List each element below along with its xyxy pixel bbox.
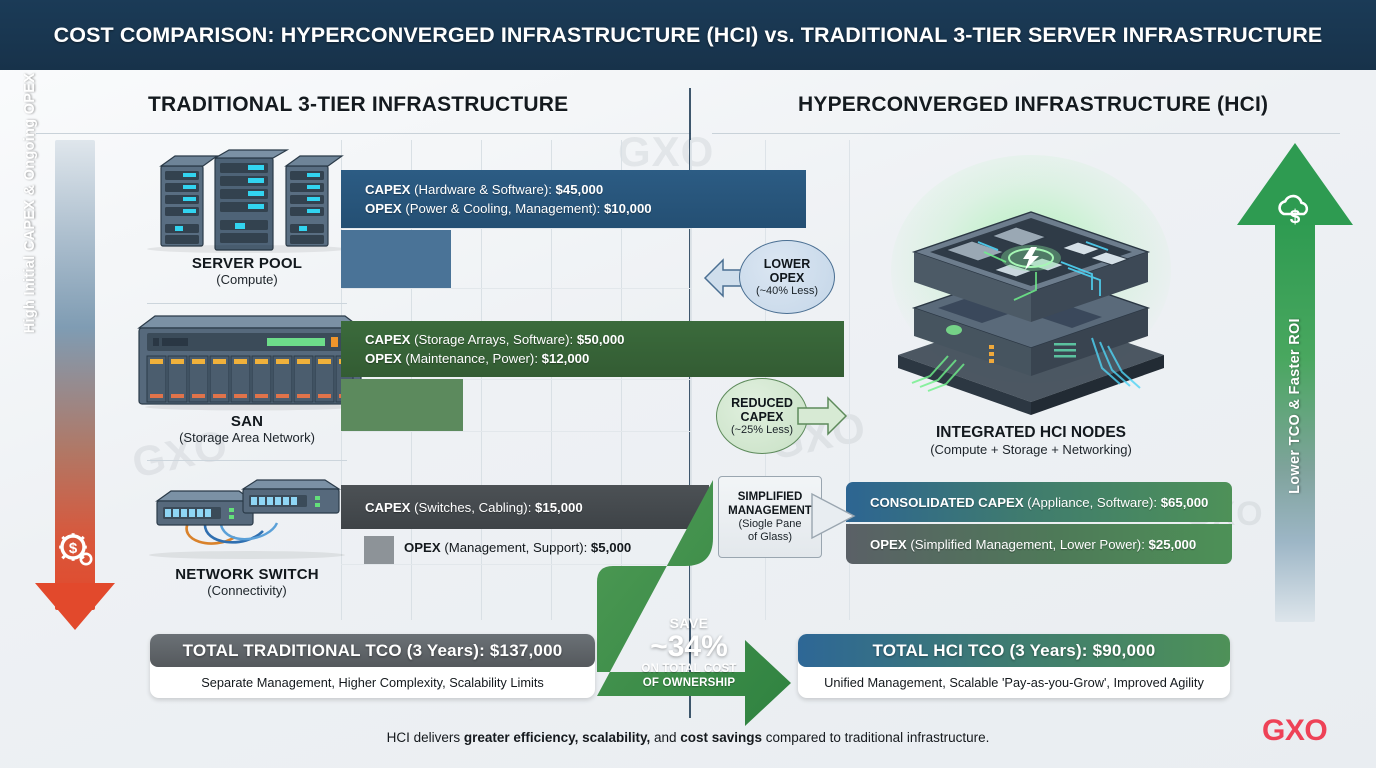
svg-text:$: $ xyxy=(69,540,78,557)
tier-network-switch: NETWORK SWITCH (Connectivity) xyxy=(117,475,377,563)
savings-badge-text: SAVE ~34% ON TOTAL COST OF OWNERSHIP xyxy=(628,615,750,690)
total-traditional-sub: Separate Management, Higher Complexity, … xyxy=(150,667,595,698)
bar-tier1-capex: CAPEX (Hardware & Software): $45,000 OPE… xyxy=(341,170,806,228)
tier-label-server-pool: SERVER POOL (Compute) xyxy=(117,255,377,287)
callout-lower-opex: LOWER OPEX (~40% Less) xyxy=(739,240,835,314)
column-heading-hci: HYPERCONVERGED INFRASTRUCTURE (HCI) xyxy=(798,93,1268,117)
tier-san: SAN (Storage Area Network) xyxy=(117,310,377,410)
arrow-right-icon xyxy=(812,490,854,542)
isometric-hci-node-stack-icon xyxy=(886,140,1176,425)
tier-label-network-switch: NETWORK SWITCH (Connectivity) xyxy=(117,566,377,598)
bar-tier3-opex xyxy=(364,536,394,564)
bar-hci-capex: CONSOLIDATED CAPEX (Appliance, Software)… xyxy=(846,482,1232,522)
disk-array-icon xyxy=(117,310,377,410)
server-tower-stack-icon xyxy=(117,148,377,253)
bar-hci-opex: OPEX (Simplified Management, Lower Power… xyxy=(846,524,1232,564)
total-traditional-tco: TOTAL TRADITIONAL TCO (3 Years): $137,00… xyxy=(150,634,595,698)
bar-tier2-opex xyxy=(341,379,463,431)
column-heading-traditional: TRADITIONAL 3-TIER INFRASTRUCTURE xyxy=(148,93,568,117)
bar-tier2-capex: CAPEX (Storage Arrays, Software): $50,00… xyxy=(341,321,844,377)
footer-note: HCI delivers greater efficiency, scalabi… xyxy=(0,730,1376,745)
tier-server-pool: SERVER POOL (Compute) xyxy=(117,148,377,253)
callout-simplified-management: SIMPLIFIED MANAGEMENT (Siogle Pane of Gl… xyxy=(718,476,822,558)
header-banner: COST COMPARISON: HYPERCONVERGED INFRASTR… xyxy=(0,0,1376,70)
total-hci-sub: Unified Management, Scalable 'Pay-as-you… xyxy=(798,667,1230,698)
bar-tier1-opex xyxy=(341,230,451,288)
heading-divider-right xyxy=(712,133,1340,134)
hci-node-illustration xyxy=(886,140,1176,425)
total-hci-tco: TOTAL HCI TCO (3 Years): $90,000 Unified… xyxy=(798,634,1230,698)
tier-label-san: SAN (Storage Area Network) xyxy=(117,413,377,445)
arrow-down-head-icon xyxy=(35,583,115,630)
heading-divider-left xyxy=(36,133,691,134)
total-hci-title: TOTAL HCI TCO (3 Years): $90,000 xyxy=(798,634,1230,667)
right-arrow-label: Lower TCO & Faster ROI xyxy=(1287,223,1303,589)
total-traditional-title: TOTAL TRADITIONAL TCO (3 Years): $137,00… xyxy=(150,634,595,667)
hci-node-label: INTEGRATED HCI NODES (Compute + Storage … xyxy=(886,424,1176,457)
page-title: COST COMPARISON: HYPERCONVERGED INFRASTR… xyxy=(54,23,1323,48)
callout-reduced-capex: REDUCED CAPEX (~25% Less) xyxy=(716,378,808,454)
network-switch-icon xyxy=(117,475,377,563)
arrow-right-icon xyxy=(798,396,846,436)
left-arrow-label: High Initial CAPEX & Ongoing OPEX xyxy=(22,13,38,393)
infographic-canvas: COST COMPARISON: HYPERCONVERGED INFRASTR… xyxy=(0,0,1376,768)
gxo-logo: GXO xyxy=(1262,714,1327,748)
dollar-gear-icon: $ xyxy=(58,532,92,566)
